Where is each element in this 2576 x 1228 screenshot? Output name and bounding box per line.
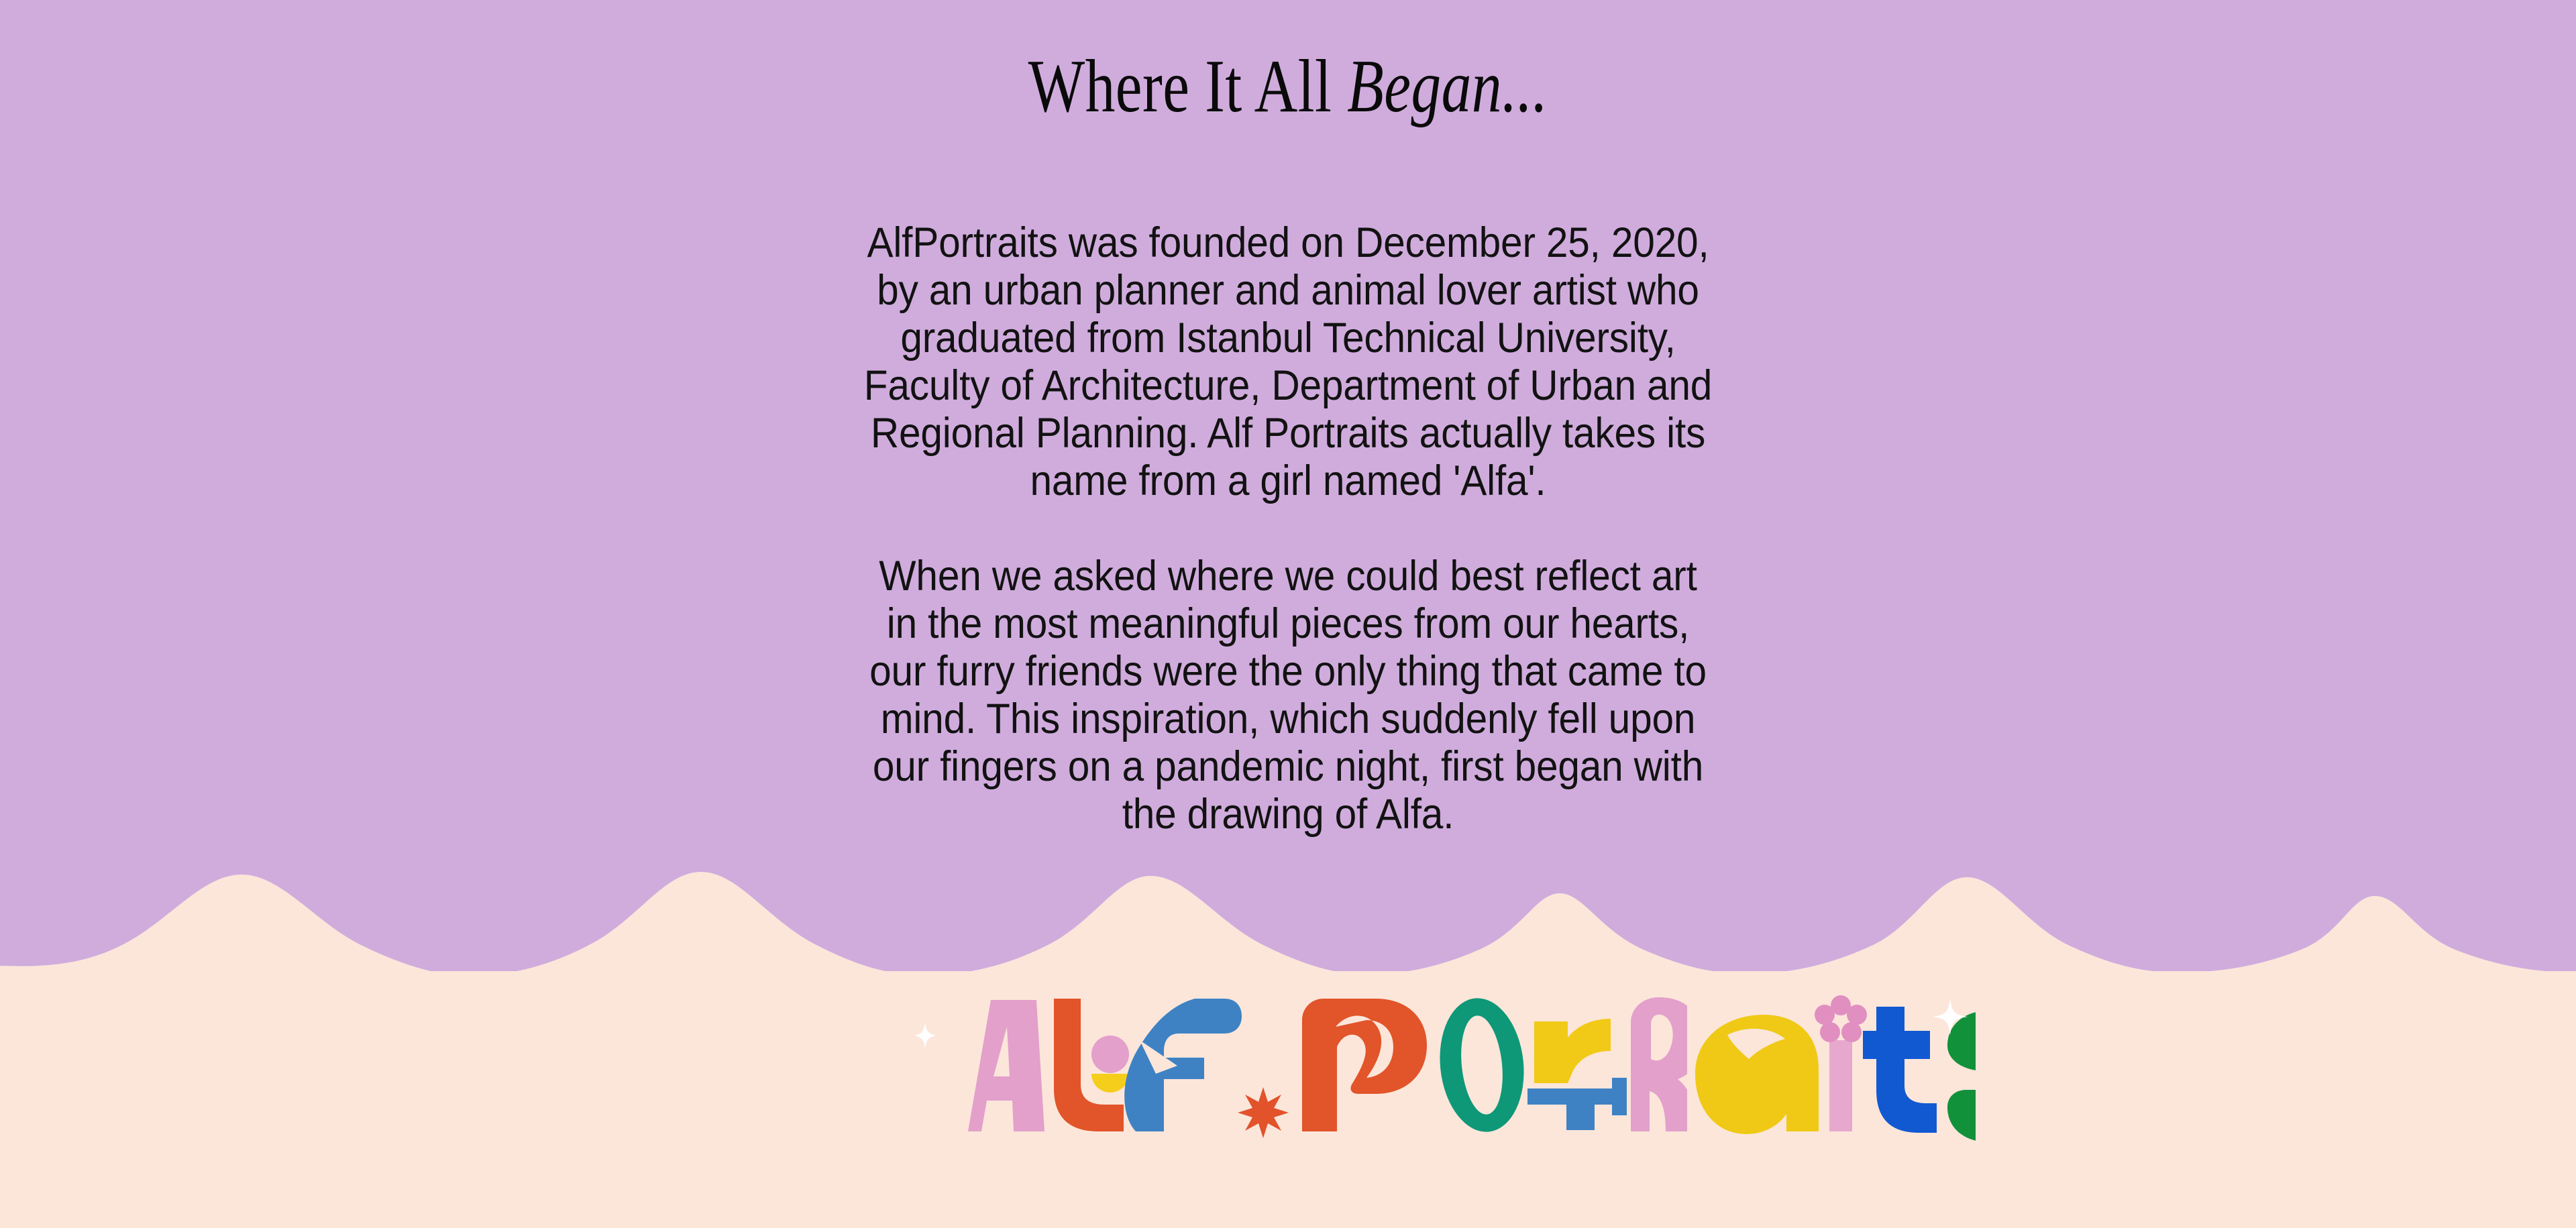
alfportraits-logo-svg-2 [889,976,1687,1143]
flower-icon [1815,995,1867,1042]
logo-letter-r [1534,1019,1611,1083]
page-title-italic: Began... [1347,45,1548,128]
logo-letter-t [1527,1078,1627,1130]
alfportraits-logo-svg-3 [1687,976,1976,1143]
about-paragraph-2: When we asked where we could best reflec… [864,553,1713,838]
wave-divider [0,865,2576,983]
logo-letter-i [1815,995,1867,1131]
logo-letter-a [1695,1015,1819,1134]
about-copy: AlfPortraits was founded on December 25,… [864,219,1713,838]
wave-path [0,872,2576,983]
page-root: Where It All Began... AlfPortraits was f… [0,0,2576,1228]
alfportraits-logo[interactable] [889,976,1687,1143]
logo-letter-s [1947,1011,1976,1142]
logo-letter-t2 [1863,1007,1937,1133]
page-title: Where It All Began... [258,49,2318,124]
about-paragraph-1: AlfPortraits was founded on December 25,… [864,219,1713,505]
page-title-roman: Where It All [1028,45,1347,128]
logo-letter-R [1631,997,1687,1131]
